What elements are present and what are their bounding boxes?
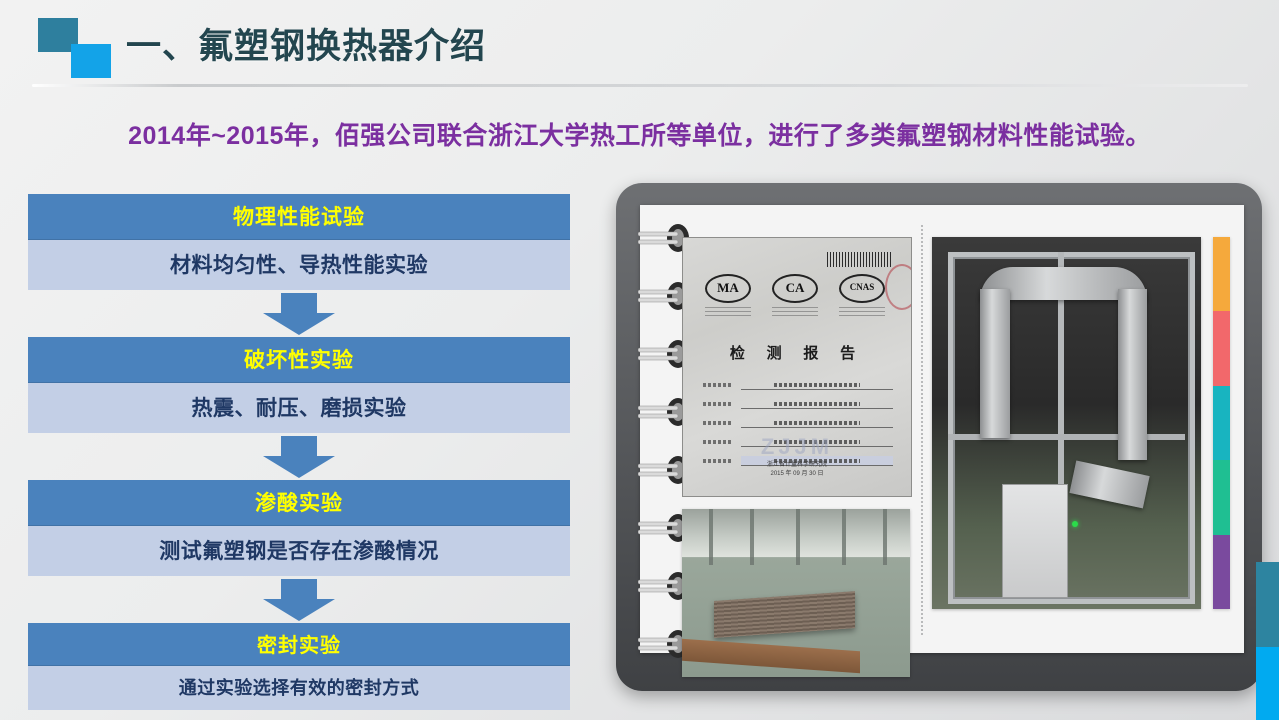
notebook-right-column [932, 221, 1230, 639]
ma-mark-caption [705, 307, 751, 319]
mark-cnas: CNAS [839, 274, 885, 319]
edge-accent-top [1256, 562, 1279, 647]
insulated-duct [980, 289, 1010, 438]
report-watermark: ZJJM [683, 434, 911, 460]
test-report-document: MA CA CNAS 检 测 报 告 [682, 237, 912, 497]
factory-column [796, 509, 800, 565]
notebook-panel: MA CA CNAS 检 测 报 告 [616, 183, 1262, 691]
flow-arrow-1 [28, 290, 570, 337]
flow-step-4-title: 密封实验 [28, 623, 570, 666]
color-swatch-cyan [1213, 386, 1230, 460]
certification-marks: MA CA CNAS [705, 274, 885, 319]
flow-step-1-desc: 材料均匀性、导热性能实验 [28, 240, 570, 290]
steel-beam [682, 639, 860, 673]
edge-accent-bar [1256, 562, 1279, 720]
color-bar [1213, 237, 1230, 609]
down-arrow-icon [259, 579, 339, 621]
flow-arrow-2 [28, 433, 570, 480]
factory-column [842, 509, 846, 565]
flow-step-2-title: 破坏性实验 [28, 337, 570, 383]
flow-step-1: 物理性能试验 材料均匀性、导热性能实验 [28, 194, 570, 290]
flow-step-2: 破坏性实验 热震、耐压、磨损实验 [28, 337, 570, 433]
report-footer: 浙江省计量科学研究院 2015 年 09 月 30 日 [683, 461, 911, 480]
factory-tube-bundle-photo [682, 509, 910, 677]
edge-accent-bottom [1256, 647, 1279, 720]
red-seal-stamp-icon [885, 264, 912, 310]
flow-step-2-desc: 热震、耐压、磨损实验 [28, 383, 570, 433]
flow-step-1-title: 物理性能试验 [28, 194, 570, 240]
mark-ma: MA [705, 274, 751, 319]
page-title: 一、氟塑钢换热器介绍 [126, 18, 486, 69]
flow-step-3-desc: 测试氟塑钢是否存在渗酸情况 [28, 526, 570, 576]
color-swatch-red [1213, 311, 1230, 385]
cma-mark-caption [772, 307, 818, 319]
flow-step-4-desc: 通过实验选择有效的密封方式 [28, 666, 570, 710]
factory-column [709, 509, 713, 565]
flow-arrow-3 [28, 576, 570, 623]
report-field-row [703, 418, 893, 428]
flow-step-4: 密封实验 通过实验选择有效的密封方式 [28, 623, 570, 710]
decor-square-light [71, 44, 111, 78]
notebook-left-column: MA CA CNAS 检 测 报 告 [682, 221, 910, 639]
experiment-flowchart: 物理性能试验 材料均匀性、导热性能实验 破坏性实验 热震、耐压、磨损实验 渗酸实… [28, 194, 570, 710]
cma-mark-icon: CA [772, 274, 818, 303]
control-cabinet [1002, 484, 1069, 598]
barcode-icon [827, 252, 891, 267]
flow-step-3: 渗酸实验 测试氟塑钢是否存在渗酸情况 [28, 480, 570, 576]
color-swatch-orange [1213, 237, 1230, 311]
insulated-duct [1118, 289, 1148, 460]
flow-step-3-title: 渗酸实验 [28, 480, 570, 526]
report-field-row [703, 380, 893, 390]
subtitle-text: 2014年~2015年，佰强公司联合浙江大学热工所等单位，进行了多类氟塑钢材料性… [0, 116, 1279, 152]
down-arrow-icon [259, 293, 339, 335]
heat-exchanger-tube-bundle [714, 591, 855, 638]
ma-mark-icon: MA [705, 274, 751, 303]
report-title: 检 测 报 告 [683, 342, 911, 363]
column-divider [910, 221, 932, 639]
cnas-mark-caption [839, 307, 885, 319]
report-field-row [703, 399, 893, 409]
color-swatch-purple [1213, 535, 1230, 609]
color-swatch-green [1213, 460, 1230, 534]
header-decoration [38, 18, 128, 78]
factory-column [750, 509, 754, 565]
header-divider [32, 84, 1248, 87]
report-date: 2015 年 09 月 30 日 [683, 470, 911, 480]
factory-column [883, 509, 887, 565]
cnas-mark-icon: CNAS [839, 274, 885, 303]
report-issuer: 浙江省计量科学研究院 [683, 461, 911, 471]
mark-cma: CA [772, 274, 818, 319]
down-arrow-icon [259, 436, 339, 478]
notebook-page: MA CA CNAS 检 测 报 告 [640, 205, 1244, 653]
test-apparatus-photo [932, 237, 1201, 609]
